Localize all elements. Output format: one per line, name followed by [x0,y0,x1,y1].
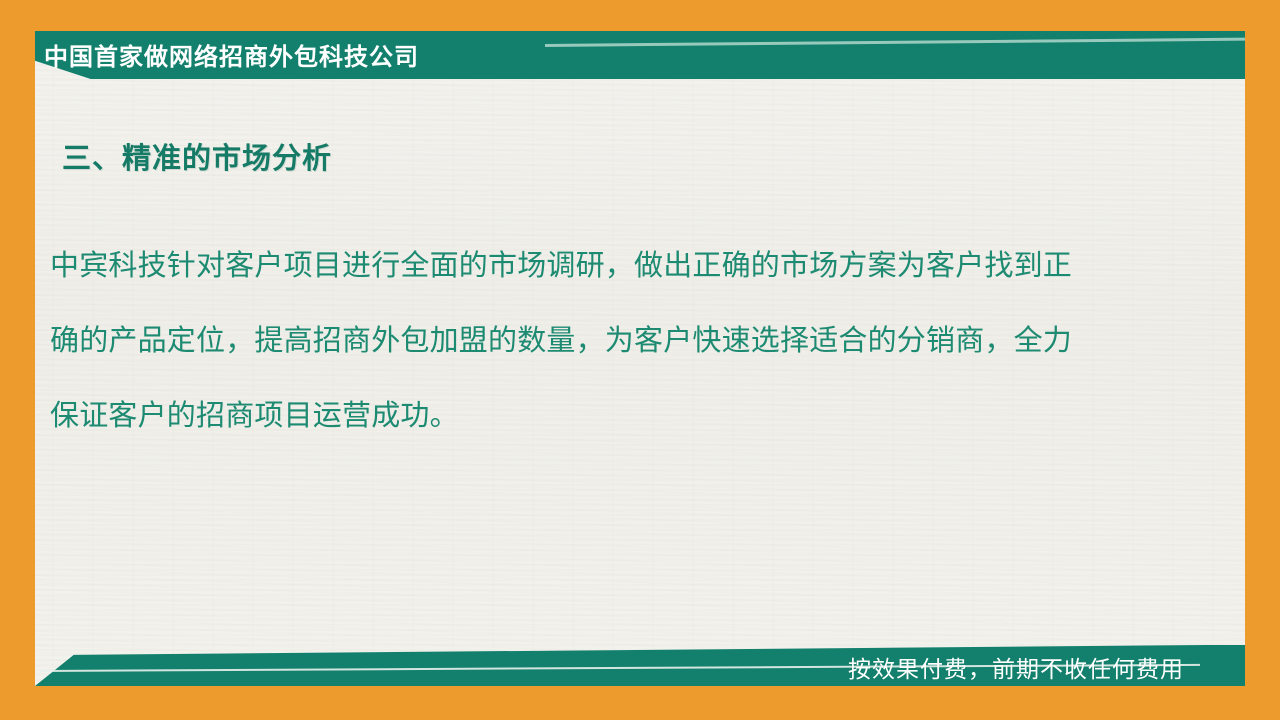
body-paragraph: 中宾科技针对客户项目进行全面的市场调研，做出正确的市场方案为客户找到正 确的产品… [50,228,1185,453]
presentation-slide: 中国首家做网络招商外包科技公司 三、精准的市场分析 中宾科技针对客户项目进行全面… [0,0,1280,720]
frame-border-bottom [0,686,1280,720]
frame-border-left [0,0,35,720]
body-paragraph-line: 确的产品定位，提高招商外包加盟的数量，为客户快速选择适合的分销商，全力 [50,303,1185,378]
footer-slogan: 按效果付费，前期不收任何费用 [848,650,1184,684]
frame-border-top [0,0,1280,31]
frame-border-right [1245,0,1280,720]
section-heading: 三、精准的市场分析 [62,135,332,177]
body-paragraph-line: 中宾科技针对客户项目进行全面的市场调研，做出正确的市场方案为客户找到正 [50,228,1185,303]
header-title: 中国首家做网络招商外包科技公司 [44,37,419,72]
body-paragraph-line: 保证客户的招商项目运营成功。 [50,378,1185,453]
